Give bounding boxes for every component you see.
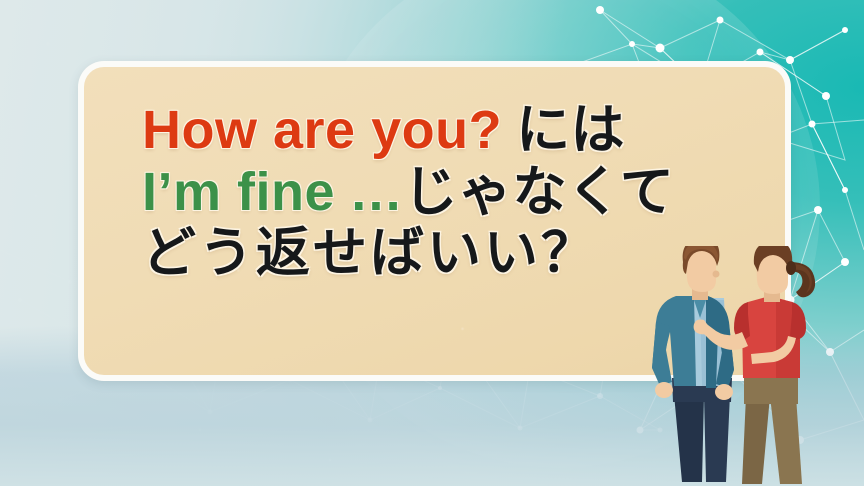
headline-english-phrase-2: I’m fine xyxy=(142,162,335,222)
headline-japanese-clause: じゃなくて xyxy=(404,162,675,222)
headline-line-2: I’m fine…じゃなくて xyxy=(142,165,782,221)
headline-japanese-question: どう返せばいい？ xyxy=(142,223,598,283)
headline-line-1: How are you?には xyxy=(142,103,782,159)
man-figure xyxy=(652,246,734,482)
headline-english-phrase-1: How are you? xyxy=(142,100,502,160)
slide-canvas: How are you?には I’m fine…じゃなくて どう返せばいい？ xyxy=(0,0,864,486)
headline-japanese-particle: には xyxy=(516,100,625,160)
two-people-illustration xyxy=(630,246,830,486)
headline-ellipsis: … xyxy=(349,162,404,222)
